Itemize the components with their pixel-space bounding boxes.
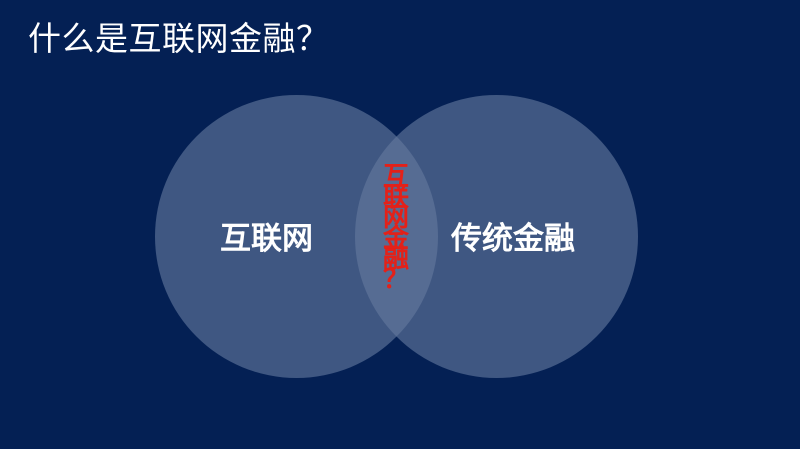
venn-label-right: 传统金融: [451, 219, 575, 259]
venn-label-overlap: 互 联 网 金 融 ？: [380, 166, 412, 289]
venn-diagram: 互联网 传统金融 互 联 网 金 融 ？: [0, 0, 800, 449]
venn-label-left: 互联网: [220, 219, 313, 259]
slide-canvas: 什么是互联网金融？ 互联网 传统金融 互 联 网 金 融 ？: [0, 0, 800, 449]
